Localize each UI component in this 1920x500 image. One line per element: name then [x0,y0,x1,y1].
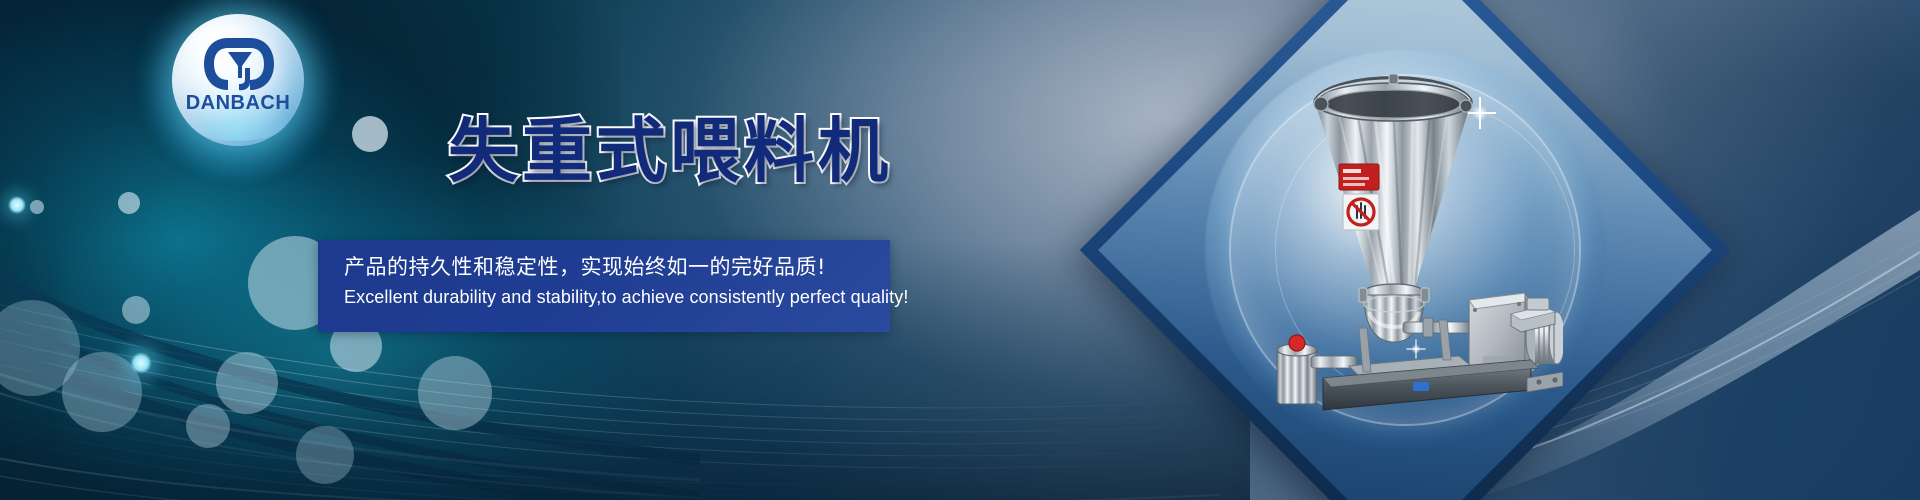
bokeh-circle [418,356,492,430]
banner-title: 失重式喂料机 [448,116,892,186]
product-showcase [1085,0,1725,500]
diamond-frame [1080,0,1731,500]
tagline-english: Excellent durability and stability,to ac… [344,287,864,308]
bokeh-circle [186,404,230,448]
bokeh-circle [352,116,388,152]
diamond-content [1175,20,1635,480]
brand-logo[interactable]: DANBACH [172,14,304,146]
diamond-inner-panel [1098,0,1712,500]
bokeh-circle [122,296,150,324]
tagline-chinese: 产品的持久性和稳定性，实现始终如一的完好品质! [344,253,864,281]
bokeh-circle [216,352,278,414]
tagline-panel: 产品的持久性和稳定性，实现始终如一的完好品质! Excellent durabi… [318,240,890,332]
banner-root: DANBACH 失重式喂料机 产品的持久性和稳定性，实现始终如一的完好品质! E… [0,0,1920,500]
glow-dot [8,196,26,214]
blue-tag-icon [1413,382,1429,391]
product-machine-image [1263,60,1563,420]
no-hand-prohibition-icon [1343,194,1379,230]
bokeh-circle [30,200,44,214]
brand-name: DANBACH [172,92,304,115]
danbach-emblem-icon [198,34,280,96]
bokeh-circle [118,192,140,214]
glow-dot [130,352,152,374]
bokeh-circle [296,426,354,484]
red-knob-icon [1289,335,1305,351]
